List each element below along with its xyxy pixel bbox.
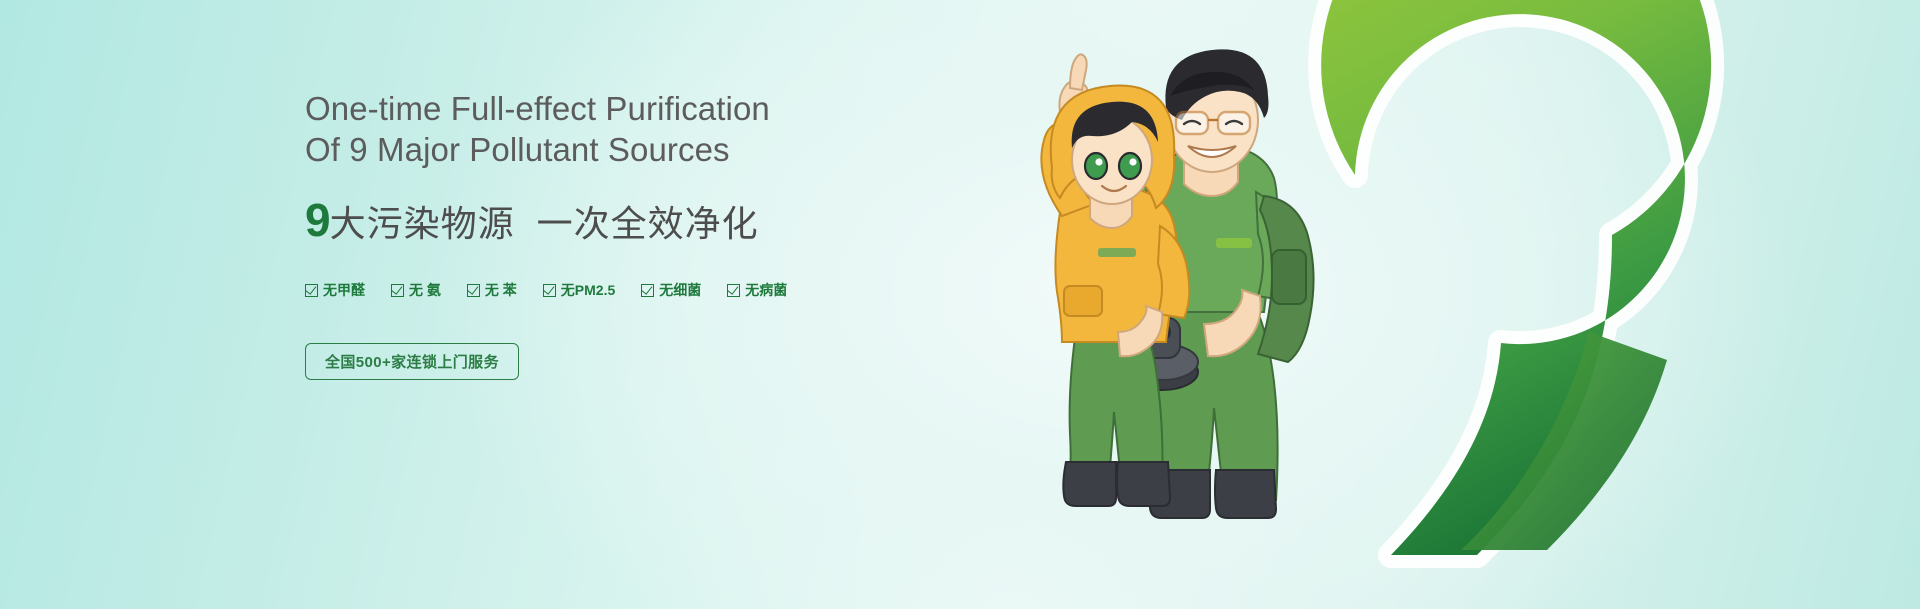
check-box-icon xyxy=(727,284,740,297)
check-box-icon xyxy=(305,284,318,297)
headline-number: 9 xyxy=(305,197,330,243)
feature-badge-label: 无 氨 xyxy=(409,280,441,300)
banner-artwork xyxy=(1020,0,1920,609)
feature-badge: 无 苯 xyxy=(467,280,517,300)
headline-english: One-time Full-effect Purification Of 9 M… xyxy=(305,88,1105,170)
check-box-icon xyxy=(391,284,404,297)
banner-copy: One-time Full-effect Purification Of 9 M… xyxy=(305,88,1105,380)
feature-badge: 无细菌 xyxy=(641,280,701,300)
headline-chinese: 9 大污染物源 一次全效净化 xyxy=(305,197,1105,243)
feature-badge-label: 无PM2.5 xyxy=(561,280,615,300)
promo-banner: One-time Full-effect Purification Of 9 M… xyxy=(0,0,1920,609)
feature-badge-label: 无细菌 xyxy=(659,280,701,300)
feature-badge: 无甲醛 xyxy=(305,280,365,300)
feature-badge: 无PM2.5 xyxy=(543,280,615,300)
headline-chinese-text: 大污染物源 一次全效净化 xyxy=(330,206,759,242)
feature-badge-label: 无甲醛 xyxy=(323,280,365,300)
check-box-icon xyxy=(543,284,556,297)
feature-badge-label: 无 苯 xyxy=(485,280,517,300)
check-box-icon xyxy=(641,284,654,297)
service-cta-button[interactable]: 全国500+家连锁上门服务 xyxy=(305,343,519,380)
big-nine-graphic xyxy=(1321,0,1711,555)
feature-badge-label: 无病菌 xyxy=(745,280,787,300)
check-box-icon xyxy=(467,284,480,297)
feature-badge: 无病菌 xyxy=(727,280,787,300)
feature-badge-list: 无甲醛 无 氨 无 苯 无PM2.5 无细菌 无病菌 xyxy=(305,280,1105,300)
feature-badge: 无 氨 xyxy=(391,280,441,300)
